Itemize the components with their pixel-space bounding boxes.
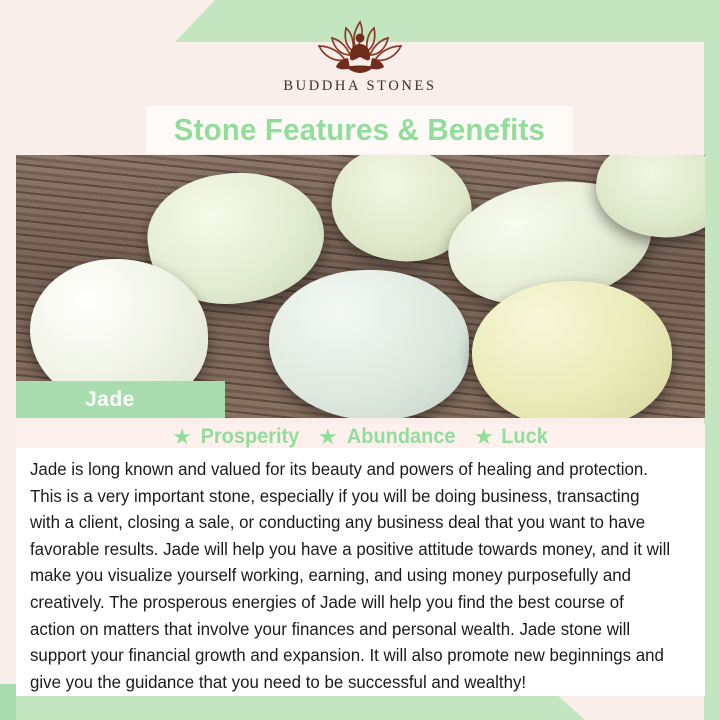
stone-info-card: BUDDHA STONES Stone Features & Benefits … [0,0,720,720]
benefit-label: Prosperity [201,425,300,449]
jade-stones-photo [16,155,705,418]
lotus-meditation-figure-icon [300,18,420,76]
benefit-item: ★ Prosperity [172,425,302,449]
brand-logo: BUDDHA STONES [0,18,720,104]
stone-object [472,281,672,418]
benefit-label: Abundance [346,425,455,449]
description-text: Jade is long known and valued for its be… [30,456,671,695]
benefit-label: Luck [501,425,548,449]
description-panel: Jade is long known and valued for its be… [16,448,705,696]
benefit-item: ★ Luck [474,425,549,449]
star-icon: ★ [318,426,338,448]
content-card: ★ Prosperity ★ Abundance ★ Luck Jade is … [16,424,705,696]
stone-object [269,270,469,418]
title-banner: Stone Features & Benefits [146,106,573,154]
benefit-item: ★ Abundance [318,425,458,449]
benefits-row: ★ Prosperity ★ Abundance ★ Luck [16,424,705,450]
brand-wordmark: BUDDHA STONES [283,78,436,95]
stone-name-band: Jade [16,381,225,418]
page-title: Stone Features & Benefits [174,112,545,148]
frame-decoration-right [704,0,720,720]
star-icon: ★ [474,426,494,448]
stone-name-label: Jade [85,388,135,412]
star-icon: ★ [172,426,192,448]
